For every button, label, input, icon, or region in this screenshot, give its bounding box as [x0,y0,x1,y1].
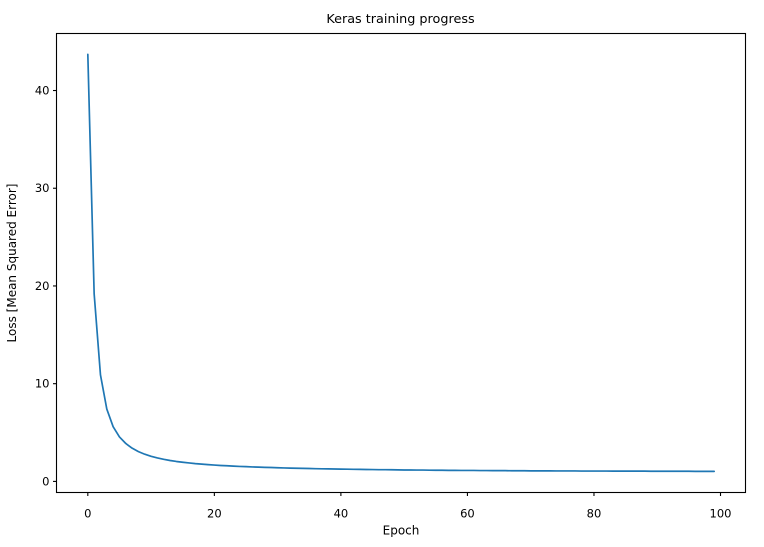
x-tick-label: 60 [460,506,475,520]
x-axis-label: Epoch [383,524,420,538]
axes-frame [57,34,746,493]
y-axis-label: Loss [Mean Squared Error] [5,184,19,343]
figure-canvas: Keras training progress 0204060801000102… [0,0,764,547]
y-tick-label: 20 [35,279,50,293]
x-tick-label: 80 [587,506,602,520]
x-tick-label: 20 [207,506,222,520]
y-tick-label: 40 [35,84,50,98]
plot-area: 020406080100010203040EpochLoss [Mean Squ… [0,0,764,547]
data-series-line [88,54,714,471]
y-tick-label: 0 [42,474,49,488]
x-tick-label: 40 [334,506,349,520]
x-tick-label: 0 [84,506,91,520]
y-tick-label: 30 [35,181,50,195]
x-tick-label: 100 [710,506,732,520]
y-tick-label: 10 [35,377,50,391]
